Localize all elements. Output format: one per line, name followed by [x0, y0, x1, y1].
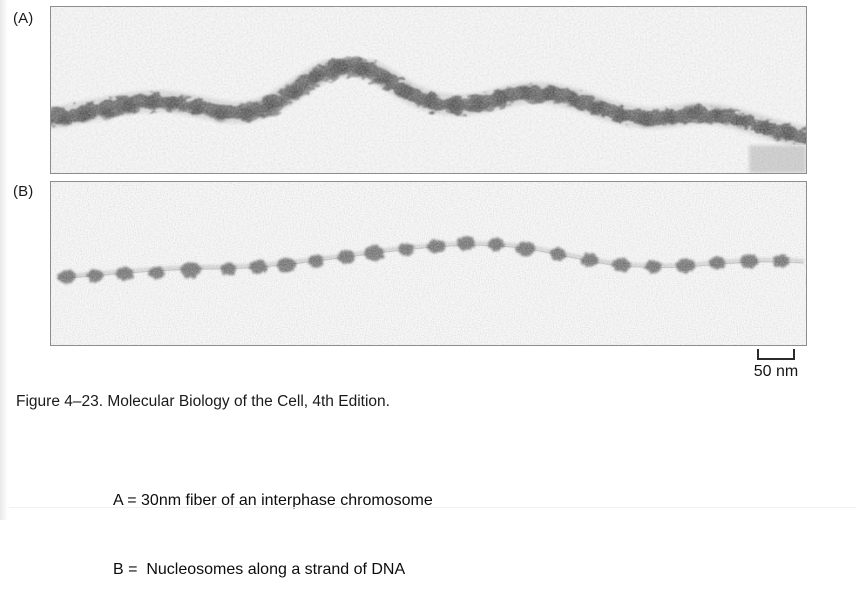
figure-legend: A = 30nm fiber of an interphase chromoso… — [113, 443, 433, 604]
scale-bar-bracket-icon — [757, 349, 795, 360]
legend-line-b: B = Nucleosomes along a strand of DNA — [113, 558, 433, 581]
scale-bar: 50 nm — [735, 349, 817, 381]
page-bottom-rule — [9, 507, 856, 508]
panel-a-label: (A) — [13, 10, 33, 28]
panel-b-micrograph — [50, 181, 807, 346]
figure-caption: Figure 4–23. Molecular Biology of the Ce… — [16, 392, 390, 411]
scale-bar-label: 50 nm — [735, 362, 817, 381]
panel-b-label: (B) — [13, 183, 33, 201]
legend-line-a: A = 30nm fiber of an interphase chromoso… — [113, 489, 433, 512]
page-left-edge-shading — [0, 0, 9, 520]
panel-a-micrograph — [50, 6, 807, 174]
